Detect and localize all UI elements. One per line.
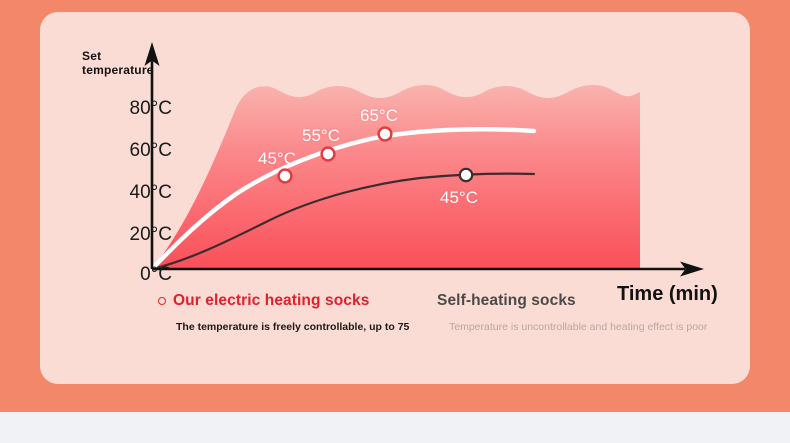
screenshot-root: 80°C 60°C 40°C 20°C 0°C Set temperature … (0, 0, 790, 443)
point-label-our-55: 55°C (302, 126, 340, 146)
legend-title-our-socks: Our electric heating socks (173, 292, 369, 310)
y-tick-80: 80°C (104, 98, 172, 120)
chart-legend: Our electric heating socks The temperatu… (0, 292, 790, 352)
y-tick-40: 40°C (104, 182, 172, 204)
y-tick-20: 20°C (104, 224, 172, 246)
point-label-our-45: 45°C (258, 149, 296, 169)
legend-item-our-socks[interactable]: Our electric heating socks The temperatu… (158, 292, 412, 333)
y-tick-60: 60°C (104, 140, 172, 162)
legend-circle-icon (158, 297, 166, 305)
legend-item-self-heating[interactable]: Self-heating socks Temperature is uncont… (437, 292, 707, 333)
y-tick-0: 0°C (104, 264, 172, 286)
legend-subtitle-our-socks: The temperature is freely controllable, … (158, 321, 412, 333)
point-label-our-65: 65°C (360, 106, 398, 126)
legend-subtitle-self-heating: Temperature is uncontrollable and heatin… (437, 321, 707, 333)
legend-title-self-heating: Self-heating socks (437, 292, 576, 310)
series-self-heating-markers (460, 169, 472, 181)
y-axis-title: Set temperature (82, 50, 154, 78)
point-label-self-45: 45°C (440, 188, 478, 208)
